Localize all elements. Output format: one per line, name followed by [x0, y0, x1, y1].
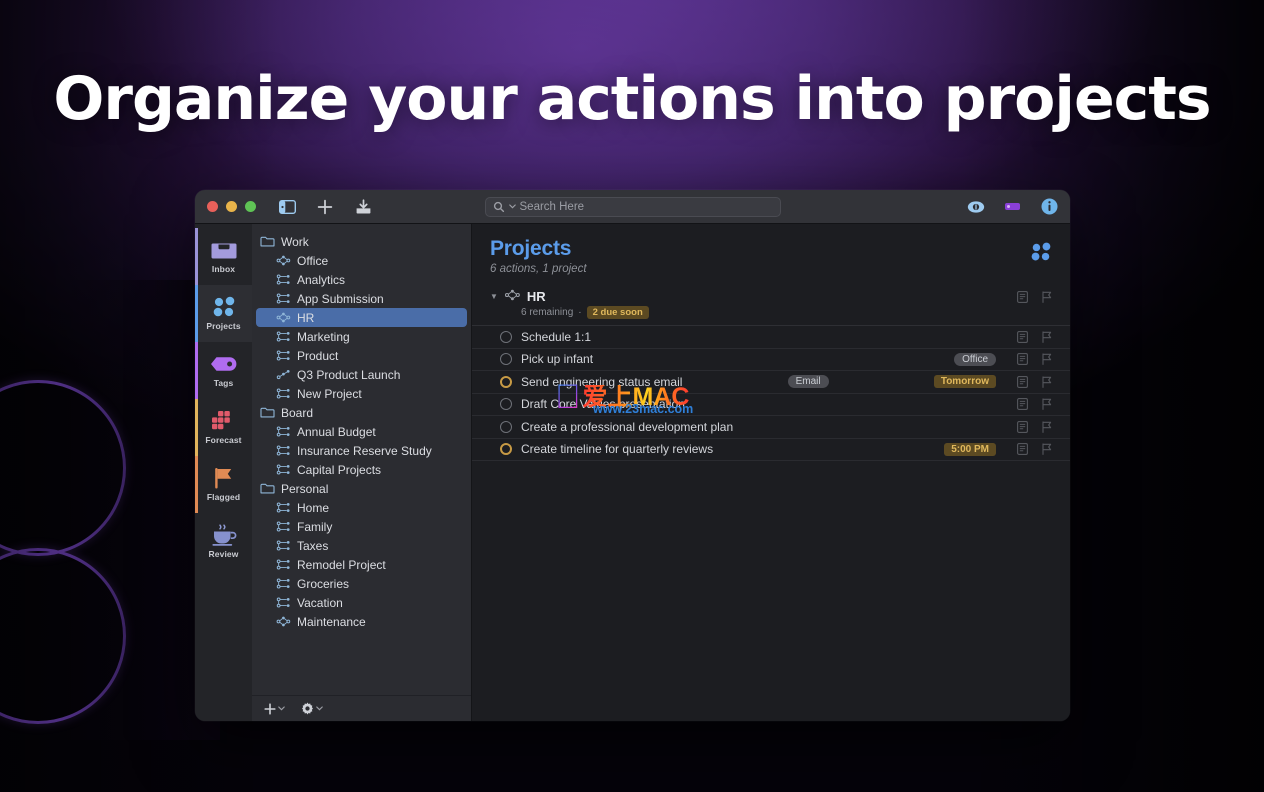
project-type-icon: [276, 292, 291, 305]
sequential-project-icon: [276, 464, 291, 475]
task-row-icons: [1017, 376, 1052, 388]
project-row[interactable]: Remodel Project: [252, 555, 471, 574]
task-title: Draft Core Values presentation: [521, 397, 685, 411]
sequential-project-icon: [276, 274, 291, 285]
project-type-icon: [276, 615, 291, 628]
project-label: Remodel Project: [297, 558, 386, 572]
search-input[interactable]: Search Here: [485, 197, 781, 217]
project-type-icon: [276, 349, 291, 362]
project-label: Family: [297, 520, 332, 534]
view-options-button[interactable]: [967, 198, 985, 216]
project-type-icon: [276, 387, 291, 400]
sidebar-item-label: Tags: [214, 378, 234, 388]
folder-icon: [260, 236, 275, 247]
project-row[interactable]: Vacation: [252, 593, 471, 612]
project-label: Home: [297, 501, 329, 515]
sidebar-item-label: Inbox: [212, 264, 235, 274]
task-title: Create timeline for quarterly reviews: [521, 442, 713, 456]
inbox-download-icon: [355, 199, 372, 215]
chevron-down-icon: [278, 706, 285, 711]
folder-row[interactable]: Work: [252, 232, 471, 251]
sequential-project-icon: [276, 426, 291, 437]
project-label: Work: [281, 235, 309, 249]
project-type-icon: [276, 311, 291, 324]
four-dots-icon: [212, 296, 236, 318]
task-row[interactable]: Schedule 1:1: [472, 326, 1070, 349]
task-checkbox[interactable]: [500, 443, 512, 455]
status-badge: 2 due soon: [587, 306, 649, 319]
add-item-button[interactable]: [316, 198, 334, 216]
project-row[interactable]: Analytics: [252, 270, 471, 289]
project-label: Annual Budget: [297, 425, 376, 439]
project-type-icon: [276, 444, 291, 457]
project-label: Insurance Reserve Study: [297, 444, 432, 458]
task-due-badge: 5:00 PM: [944, 443, 996, 456]
task-title: Send engineering status email: [521, 375, 682, 389]
sidebar-item-label: Projects: [206, 321, 240, 331]
parallel-project-icon: [276, 312, 291, 323]
flag-icon[interactable]: [1042, 353, 1052, 365]
project-label: Taxes: [297, 539, 328, 553]
folder-icon: [260, 407, 275, 418]
project-row[interactable]: Annual Budget: [252, 422, 471, 441]
task-row[interactable]: Create timeline for quarterly reviews5:0…: [472, 439, 1070, 462]
sidebar-item-tags[interactable]: Tags: [195, 342, 252, 399]
sidebar-item-label: Review: [209, 549, 239, 559]
group-separator: ·: [578, 307, 581, 318]
plus-icon: [264, 703, 276, 715]
project-row[interactable]: Maintenance: [252, 612, 471, 631]
projects-accent-stripe: [195, 285, 198, 342]
sidebar-item-forecast[interactable]: Forecast: [195, 399, 252, 456]
task-tag[interactable]: Email: [788, 375, 829, 388]
sequential-project-icon: [276, 293, 291, 304]
folder-icon: [260, 406, 275, 419]
forecast-accent-stripe: [195, 399, 198, 456]
traffic-lights: [207, 201, 256, 212]
sidebar-item-flagged[interactable]: Flagged: [195, 456, 252, 513]
project-label: App Submission: [297, 292, 384, 306]
inbox-quick-entry-button[interactable]: [354, 198, 372, 216]
project-label: New Project: [297, 387, 362, 401]
flag-icon[interactable]: [1042, 421, 1052, 433]
task-row-icons: [1017, 421, 1052, 433]
project-type-icon: [276, 273, 291, 286]
flag-icon[interactable]: [1042, 331, 1052, 343]
project-label: Office: [297, 254, 328, 268]
project-label: Capital Projects: [297, 463, 381, 477]
flag-icon: [214, 467, 234, 489]
task-row[interactable]: Draft Core Values presentation: [472, 394, 1070, 417]
inspector-button[interactable]: [1040, 198, 1058, 216]
task-row-icons: [1017, 331, 1052, 343]
task-checkbox[interactable]: [500, 353, 512, 365]
project-type-icon: [276, 539, 291, 552]
project-row[interactable]: App Submission: [252, 289, 471, 308]
task-checkbox[interactable]: [500, 331, 512, 343]
project-label: Vacation: [297, 596, 343, 610]
note-icon[interactable]: [1017, 331, 1028, 343]
gear-icon: [301, 702, 314, 715]
review-accent-stripe: [195, 513, 198, 570]
group-header: ▼ HR: [472, 285, 1070, 319]
tag-dash-icon[interactable]: [1005, 203, 1020, 210]
sidebar-item-label: Forecast: [205, 435, 241, 445]
tags-accent-stripe: [195, 342, 198, 399]
sidebar-item-inbox[interactable]: Inbox: [195, 228, 252, 285]
project-type-icon: [276, 501, 291, 514]
close-button[interactable]: [207, 201, 218, 212]
sequential-project-icon: [276, 540, 291, 551]
search-chevron-down-icon[interactable]: [509, 204, 516, 209]
project-label: Q3 Product Launch: [297, 368, 400, 382]
sequential-project-icon: [276, 597, 291, 608]
task-row[interactable]: Pick up infantOffice: [472, 349, 1070, 372]
project-label: HR: [297, 311, 314, 325]
sequential-project-icon: [276, 521, 291, 532]
flag-icon[interactable]: [1042, 291, 1052, 303]
project-label: Board: [281, 406, 313, 420]
project-list: WorkOfficeAnalyticsApp SubmissionHRMarke…: [252, 224, 471, 695]
search-magnifier-icon: [493, 201, 505, 213]
project-row[interactable]: Office: [252, 251, 471, 270]
coffee-cup-icon: [211, 524, 237, 546]
project-type-icon: [276, 463, 291, 476]
flag-icon[interactable]: [1042, 376, 1052, 388]
project-label: Product: [297, 349, 338, 363]
page-headline: Organize your actions into projects: [0, 64, 1264, 134]
project-row[interactable]: Q3 Product Launch: [252, 365, 471, 384]
project-sidebar: WorkOfficeAnalyticsApp SubmissionHRMarke…: [252, 224, 472, 721]
inbox-tray-icon: [211, 239, 237, 261]
note-icon[interactable]: [1017, 376, 1028, 388]
task-due-badge: Tomorrow: [934, 375, 996, 388]
sequential-project-icon: [276, 559, 291, 570]
project-row[interactable]: Insurance Reserve Study: [252, 441, 471, 460]
window-body: Inbox Projects: [195, 224, 1070, 721]
sequential-project-icon: [276, 331, 291, 342]
sequential-project-icon: [276, 388, 291, 399]
folder-row[interactable]: Personal: [252, 479, 471, 498]
task-row[interactable]: Send engineering status emailEmailTomorr…: [472, 371, 1070, 394]
folder-icon: [260, 483, 275, 494]
task-checkbox[interactable]: [500, 376, 512, 388]
page-subtitle: 6 actions, 1 project: [490, 263, 587, 275]
inbox-accent-stripe: [195, 228, 198, 285]
folder-row[interactable]: Board: [252, 403, 471, 422]
note-icon[interactable]: [1017, 291, 1028, 303]
project-label: Analytics: [297, 273, 345, 287]
titlebar-left-buttons: [278, 198, 372, 216]
note-icon[interactable]: [1017, 398, 1028, 410]
sequential-project-icon: [276, 350, 291, 361]
task-tag[interactable]: Office: [954, 353, 996, 366]
note-icon[interactable]: [1017, 421, 1028, 433]
project-type-icon: [276, 520, 291, 533]
project-row[interactable]: Capital Projects: [252, 460, 471, 479]
flag-icon[interactable]: [1042, 398, 1052, 410]
parallel-project-icon: [276, 255, 291, 266]
titlebar-right-buttons: [967, 198, 1058, 216]
eye-icon: [967, 200, 985, 214]
project-type-icon: [276, 330, 291, 343]
window-titlebar: Search Here: [195, 190, 1070, 224]
group-header-top: ▼ HR: [490, 289, 1052, 304]
flagged-accent-stripe: [195, 456, 198, 513]
page-title: Projects: [490, 238, 587, 260]
zoom-button[interactable]: [245, 201, 256, 212]
app-window: Search Here: [195, 190, 1070, 721]
plus-icon: [317, 199, 333, 215]
single-action-icon: [276, 369, 291, 380]
chevron-down-icon: [316, 706, 323, 711]
group-meta: 6 remaining · 2 due soon: [521, 306, 1052, 319]
task-row-icons: [1017, 353, 1052, 365]
project-type-icon: [276, 368, 291, 381]
calendar-grid-icon: [212, 410, 236, 432]
sequential-project-icon: [276, 445, 291, 456]
sidebar-item-label: Flagged: [207, 492, 240, 502]
search-placeholder: Search Here: [520, 201, 585, 213]
project-row[interactable]: Family: [252, 517, 471, 536]
project-label: Marketing: [297, 330, 350, 344]
project-label: Maintenance: [297, 615, 366, 629]
task-checkbox[interactable]: [500, 398, 512, 410]
disclosure-triangle-icon[interactable]: ▼: [490, 292, 498, 301]
tag-icon: [210, 353, 237, 375]
project-type-icon: [276, 596, 291, 609]
project-row[interactable]: New Project: [252, 384, 471, 403]
task-title: Schedule 1:1: [521, 330, 591, 344]
sidebar-toggle-button[interactable]: [278, 198, 296, 216]
sidebar-footer: [252, 695, 471, 721]
task-row-icons: [1017, 443, 1052, 455]
project-type-icon: [276, 425, 291, 438]
task-row-icons: [1017, 398, 1052, 410]
add-project-button[interactable]: [264, 703, 285, 715]
project-type-icon: [276, 558, 291, 571]
flag-icon[interactable]: [1042, 443, 1052, 455]
project-label: Personal: [281, 482, 328, 496]
note-icon[interactable]: [1017, 353, 1028, 365]
project-row[interactable]: Marketing: [252, 327, 471, 346]
note-icon[interactable]: [1017, 443, 1028, 455]
task-checkbox[interactable]: [500, 421, 512, 433]
project-label: Groceries: [297, 577, 349, 591]
minimize-button[interactable]: [226, 201, 237, 212]
group-name: HR: [527, 289, 546, 304]
sidebar-icon: [279, 200, 296, 214]
folder-icon: [260, 235, 275, 248]
project-type-icon: [276, 577, 291, 590]
project-row[interactable]: Product: [252, 346, 471, 365]
content-header-text: Projects 6 actions, 1 project: [490, 238, 587, 275]
sequential-project-icon: [276, 502, 291, 513]
parallel-project-icon: [276, 616, 291, 627]
project-row[interactable]: HR: [256, 308, 467, 327]
info-circle-icon: [1041, 198, 1058, 215]
project-row[interactable]: Taxes: [252, 536, 471, 555]
task-list: Schedule 1:1Pick up infantOfficeSend eng…: [472, 325, 1070, 461]
group-row-icons: [1017, 291, 1052, 303]
sidebar-item-projects[interactable]: Projects: [195, 285, 252, 342]
parallel-project-icon: [505, 289, 520, 304]
task-row[interactable]: Create a professional development plan: [472, 416, 1070, 439]
sidebar-item-review[interactable]: Review: [195, 513, 252, 570]
project-type-icon: [276, 254, 291, 267]
content-area: Projects 6 actions, 1 project ▼: [472, 224, 1070, 721]
group-remaining: 6 remaining: [521, 307, 573, 318]
perspective-rail: Inbox Projects: [195, 224, 252, 721]
four-dots-icon: [1030, 242, 1052, 265]
task-title: Pick up infant: [521, 352, 593, 366]
settings-button[interactable]: [301, 702, 323, 715]
project-row[interactable]: Groceries: [252, 574, 471, 593]
content-header: Projects 6 actions, 1 project: [472, 224, 1070, 285]
project-row[interactable]: Home: [252, 498, 471, 517]
folder-icon: [260, 482, 275, 495]
task-title: Create a professional development plan: [521, 420, 733, 434]
sequential-project-icon: [276, 578, 291, 589]
